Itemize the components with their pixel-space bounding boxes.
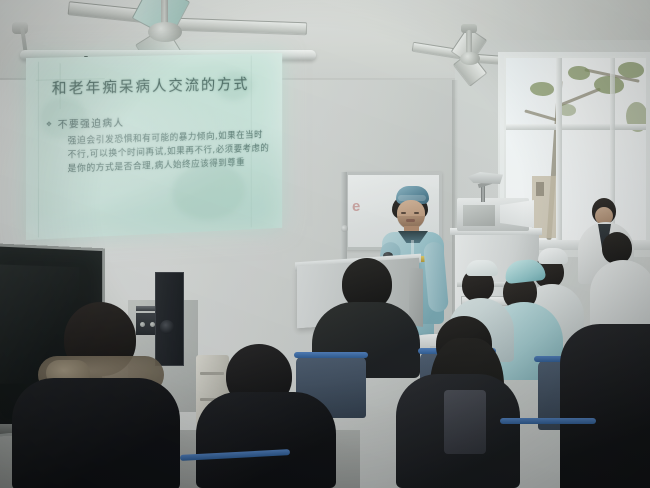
fan-motor-hub xyxy=(460,52,480,65)
fan-motor-hub xyxy=(148,22,182,42)
whiteboard-marking: e xyxy=(352,198,368,214)
slide-bullet-marker: ❖ xyxy=(46,120,52,128)
winter-coat xyxy=(12,378,180,488)
white-coat xyxy=(590,260,650,328)
presenter-eye xyxy=(401,212,406,214)
head xyxy=(602,232,632,264)
fan-blade xyxy=(175,18,307,36)
audience-member-right-rear xyxy=(596,232,650,328)
scarf xyxy=(444,390,486,454)
presenter-eye xyxy=(414,212,419,214)
projection-screen: 和老年痴呆病人交流的方式 ❖ 不要强迫病人 强迫会引发恐惧和有可能的暴力倾向,如… xyxy=(26,53,282,240)
dark-coat xyxy=(196,392,336,488)
lecture-room-photo: 和老年痴呆病人交流的方式 ❖ 不要强迫病人 强迫会引发恐惧和有可能的暴力倾向,如… xyxy=(0,0,650,488)
screen-crease xyxy=(38,62,39,238)
chair-rail xyxy=(500,418,596,424)
projector-stage-glass xyxy=(463,205,495,226)
presenter-mouth xyxy=(406,219,415,222)
slide-body-text: 强迫会引发恐惧和有可能的暴力倾向,如果在当时不行,可以换个时间再试,如果再不行,… xyxy=(68,128,270,176)
audience-member-front-center-left xyxy=(196,344,336,488)
nurse-cap-icon xyxy=(466,260,498,276)
fan-downrod xyxy=(466,30,472,54)
whiteboard-post xyxy=(341,172,347,268)
whiteboard-post-knob xyxy=(341,225,348,232)
chair-rail xyxy=(534,356,626,362)
audience-member-front-left xyxy=(12,302,180,488)
audience-member-center-right xyxy=(396,316,524,488)
